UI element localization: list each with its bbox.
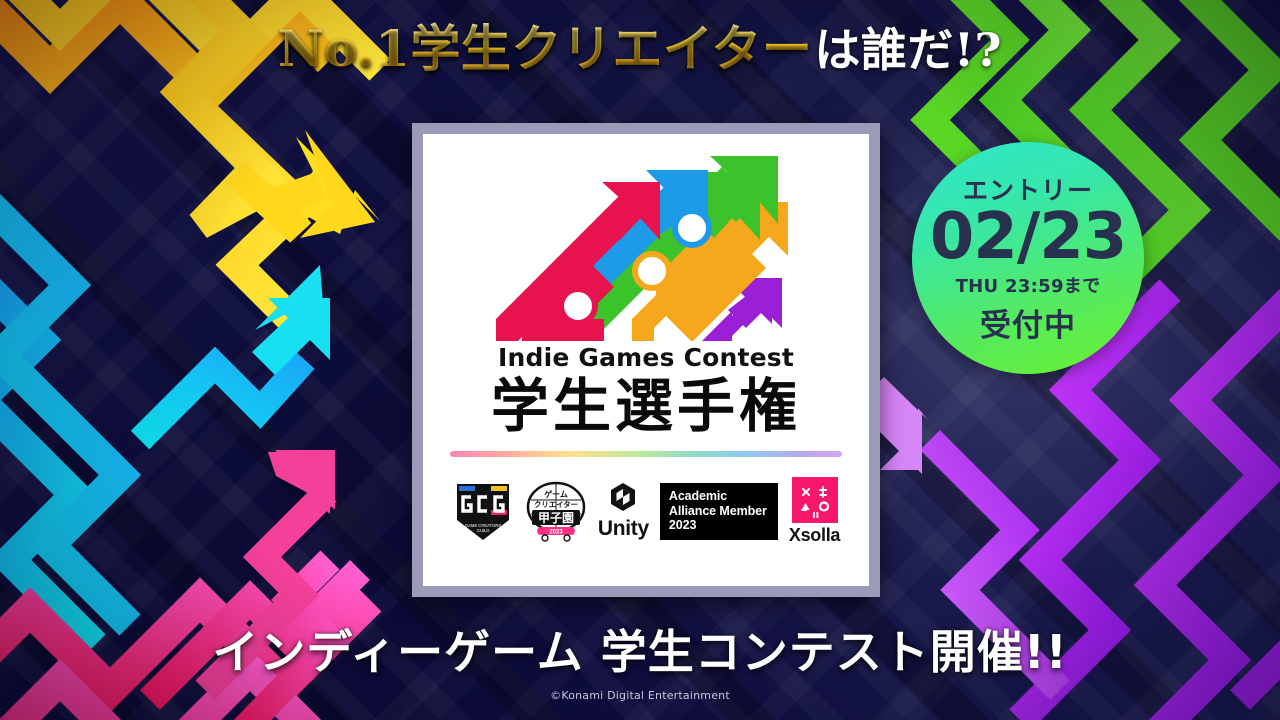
aam-line3: 2023 [669, 518, 769, 533]
contest-logo-card: Indie Games Contest 学生選手権 [412, 123, 880, 597]
contest-logo-card-inner: Indie Games Contest 学生選手権 [423, 134, 869, 586]
svg-text:クリエイター: クリエイター [534, 500, 578, 509]
gcg-logo-icon: GAME CREATORS GUILD [452, 480, 514, 542]
aam-line1: Academic [669, 489, 769, 504]
badge-deadline-time: THU 23:59まで [956, 272, 1101, 298]
sponsor-gcg: GAME CREATORS GUILD [452, 480, 514, 542]
headline-white-text: は誰だ!? [814, 23, 1002, 77]
unity-label: Unity [598, 517, 649, 541]
xsolla-label: Xsolla [789, 525, 840, 546]
svg-text:2023: 2023 [549, 530, 563, 536]
badge-date: 02/23 [930, 205, 1127, 270]
footer-tagline: インディーゲーム 学生コンテスト開催!! [0, 616, 1280, 682]
svg-text:ゲーム: ゲーム [544, 489, 568, 499]
unity-cube-icon [609, 482, 637, 512]
poster-canvas: No.1学生クリエイターは誰だ!? [0, 0, 1280, 720]
copyright-notice: ©Konami Digital Entertainment [0, 689, 1280, 702]
page-title: No.1学生クリエイターは誰だ!? [0, 24, 1280, 74]
svg-text:GUILD: GUILD [476, 528, 489, 533]
xsolla-mark-icon [792, 477, 838, 523]
badge-status: 受付中 [980, 300, 1076, 345]
contest-english-title: Indie Games Contest [498, 343, 794, 372]
koshien-logo-icon: ゲーム クリエイター 甲子園 2023 [525, 480, 587, 542]
sponsor-unity: Unity [598, 482, 649, 541]
contest-japanese-title: 学生選手権 [491, 376, 801, 437]
academic-alliance-member-badge: Academic Alliance Member 2023 [660, 483, 778, 540]
sponsor-koshien: ゲーム クリエイター 甲子園 2023 [525, 480, 587, 542]
entry-deadline-badge[interactable]: エントリー 02/23 THU 23:59まで 受付中 [912, 142, 1144, 374]
aam-line2: Alliance Member [669, 504, 769, 519]
sponsor-xsolla: Xsolla [789, 477, 840, 546]
sponsor-logo-row: GAME CREATORS GUILD ゲーム クリエイター 甲子園 [452, 477, 840, 546]
svg-text:甲子園: 甲子園 [538, 511, 574, 525]
rainbow-divider [450, 451, 842, 457]
indie-games-contest-arrows-icon [496, 156, 796, 341]
headline-gold-text: No.1学生クリエイター [278, 19, 812, 78]
